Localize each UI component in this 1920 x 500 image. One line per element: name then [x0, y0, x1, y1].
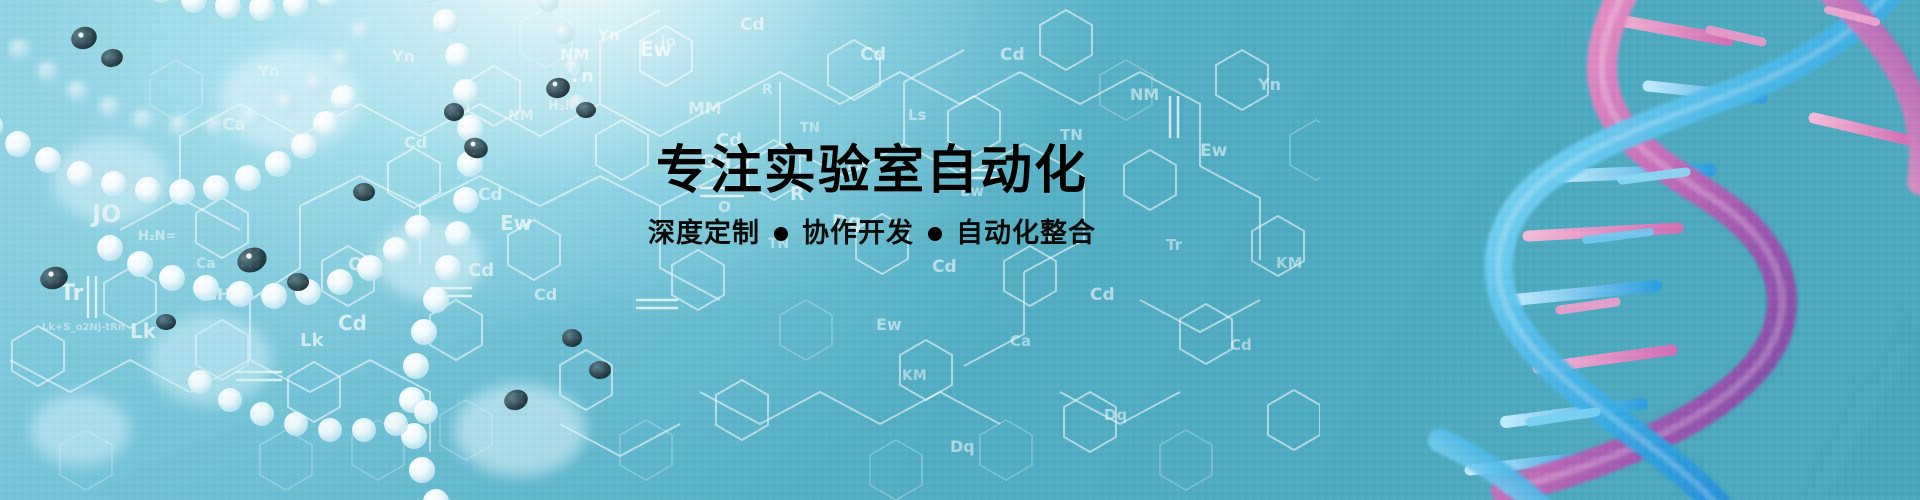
svg-text:Cd: Cd: [478, 185, 503, 205]
subtitle-item-1: 深度定制: [648, 218, 760, 250]
svg-text:Yn: Yn: [1257, 75, 1281, 94]
svg-text:Lk: Lk: [300, 330, 324, 351]
svg-text:NM: NM: [1130, 85, 1159, 104]
svg-text:KM: KM: [902, 368, 927, 384]
banner-subtitle: 深度定制 协作开发 自动化整合: [612, 218, 1132, 250]
svg-text:.: .: [198, 258, 202, 271]
svg-text:Cd: Cd: [1230, 336, 1252, 354]
svg-text:Dq: Dq: [1104, 406, 1127, 424]
svg-text:Cd: Cd: [404, 133, 427, 152]
svg-text:GH: GH: [204, 285, 231, 304]
svg-text:Ew: Ew: [1200, 141, 1228, 161]
hero-banner: Tr JO Lk Lk+S_o2Nj-tRn H₂N= Ca . GH Ca Y…: [0, 0, 1920, 500]
svg-text:Cd: Cd: [860, 44, 886, 65]
svg-text:Cd: Cd: [932, 257, 957, 277]
svg-text:Ca: Ca: [1010, 332, 1031, 350]
svg-text:TN: TN: [800, 121, 820, 136]
svg-text:Ew: Ew: [640, 37, 672, 61]
svg-text:Ls: Ls: [908, 106, 927, 124]
svg-text:Tr: Tr: [1166, 236, 1183, 254]
svg-text:Tr: Tr: [60, 281, 84, 306]
svg-text:.: .: [652, 34, 657, 50]
svg-text:Cd: Cd: [468, 260, 494, 281]
svg-text:Yn: Yn: [597, 26, 620, 44]
svg-text:Yn: Yn: [257, 62, 280, 80]
svg-text:Q: Q: [348, 254, 363, 275]
svg-text:Yn: Yn: [391, 47, 415, 66]
svg-text:NM: NM: [508, 108, 534, 124]
svg-text:H₂N=: H₂N=: [548, 99, 586, 114]
svg-text:Cd: Cd: [1090, 285, 1115, 305]
svg-text:Cd: Cd: [400, 394, 422, 412]
svg-text:Lk+S_o2Nj-tRn: Lk+S_o2Nj-tRn: [42, 322, 125, 333]
svg-text:JO: JO: [90, 200, 121, 228]
svg-text:R: R: [762, 82, 773, 98]
subtitle-item-2: 协作开发: [802, 218, 914, 250]
svg-text:NM: NM: [560, 45, 589, 64]
svg-text:Ew: Ew: [500, 211, 532, 235]
bullet-separator-icon: [774, 227, 788, 241]
svg-text:Lk: Lk: [130, 319, 157, 343]
dna-double-helix-icon: [1410, 0, 1920, 500]
svg-text:Ca: Ca: [222, 115, 246, 135]
svg-text:Cd: Cd: [534, 285, 557, 304]
svg-text:Cd: Cd: [1000, 45, 1025, 65]
svg-text:Jo: Jo: [659, 32, 676, 50]
svg-text:Ew: Ew: [876, 315, 902, 334]
svg-text:Yn: Yn: [567, 66, 594, 87]
svg-text:MM: MM: [688, 99, 722, 119]
banner-headline: 专注实验室自动化: [612, 142, 1132, 200]
svg-text:KM: KM: [1276, 254, 1303, 272]
svg-text:H₂N=: H₂N=: [138, 229, 176, 244]
svg-text:Ca: Ca: [196, 256, 216, 272]
banner-text-block: 专注实验室自动化 深度定制 协作开发 自动化整合: [612, 142, 1132, 251]
subtitle-item-3: 自动化整合: [956, 218, 1096, 250]
svg-text:Cd: Cd: [338, 311, 367, 335]
bullet-separator-icon: [928, 227, 942, 241]
svg-text:Dq: Dq: [950, 437, 975, 456]
svg-text:Cd: Cd: [740, 15, 765, 35]
